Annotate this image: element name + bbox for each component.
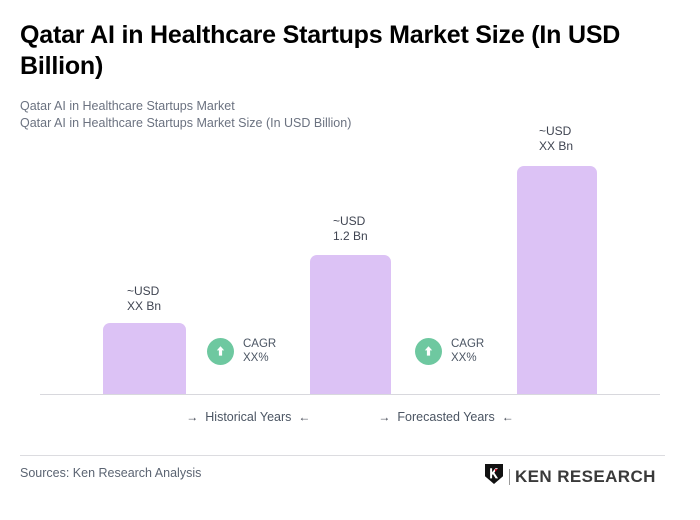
sources-text: Sources: Ken Research Analysis — [20, 466, 201, 480]
cagr-value-1: XX% — [243, 351, 276, 365]
forecasted-years-text: Forecasted Years — [397, 410, 494, 424]
axis-baseline — [40, 394, 660, 395]
cagr-value-2: XX% — [451, 351, 484, 365]
bar-label-1: ~USD XX Bn — [127, 284, 161, 313]
plot-area: ~USD XX Bn CAGR XX% ~USD 1.2 Bn — [0, 0, 700, 400]
bar-label-2: ~USD 1.2 Bn — [333, 214, 368, 243]
bar-label-3-value: XX Bn — [539, 139, 573, 154]
historical-years-label: → Historical Years ← — [186, 410, 310, 424]
bar-label-1-value: XX Bn — [127, 299, 161, 314]
brand-logo: KEN RESEARCH — [484, 463, 656, 490]
bar-label-2-prefix: ~USD — [333, 214, 365, 228]
arrow-right-icon: → — [186, 410, 198, 424]
cagr-text-1: CAGR XX% — [243, 337, 276, 365]
cagr-badge-2[interactable]: CAGR XX% — [415, 337, 484, 365]
cagr-title-2: CAGR — [451, 338, 484, 350]
cagr-title-1: CAGR — [243, 338, 276, 350]
bar-label-3-prefix: ~USD — [539, 124, 571, 138]
bar-label-3: ~USD XX Bn — [539, 124, 573, 153]
bar-forecasted-year[interactable] — [517, 166, 597, 394]
arrow-left-icon: ← — [502, 410, 514, 424]
cagr-badge-1[interactable]: CAGR XX% — [207, 337, 276, 365]
footer-divider — [20, 455, 665, 456]
ken-research-shield-icon — [484, 463, 504, 490]
bar-label-2-value: 1.2 Bn — [333, 229, 368, 244]
arrow-up-icon — [207, 338, 234, 365]
brand-divider — [509, 469, 510, 485]
arrow-left-icon: ← — [298, 410, 310, 424]
arrow-right-icon: → — [378, 410, 390, 424]
forecasted-years-label: → Forecasted Years ← — [378, 410, 513, 424]
arrow-up-icon — [415, 338, 442, 365]
chart-page: Qatar AI in Healthcare Startups Market S… — [0, 0, 700, 520]
historical-years-text: Historical Years — [205, 410, 291, 424]
bar-base-year[interactable] — [310, 255, 391, 394]
bar-historical-year[interactable] — [103, 323, 186, 394]
bar-label-1-prefix: ~USD — [127, 284, 159, 298]
year-band-labels: → Historical Years ← → Forecasted Years … — [0, 410, 700, 424]
brand-wordmark: KEN RESEARCH — [515, 467, 656, 487]
cagr-text-2: CAGR XX% — [451, 337, 484, 365]
